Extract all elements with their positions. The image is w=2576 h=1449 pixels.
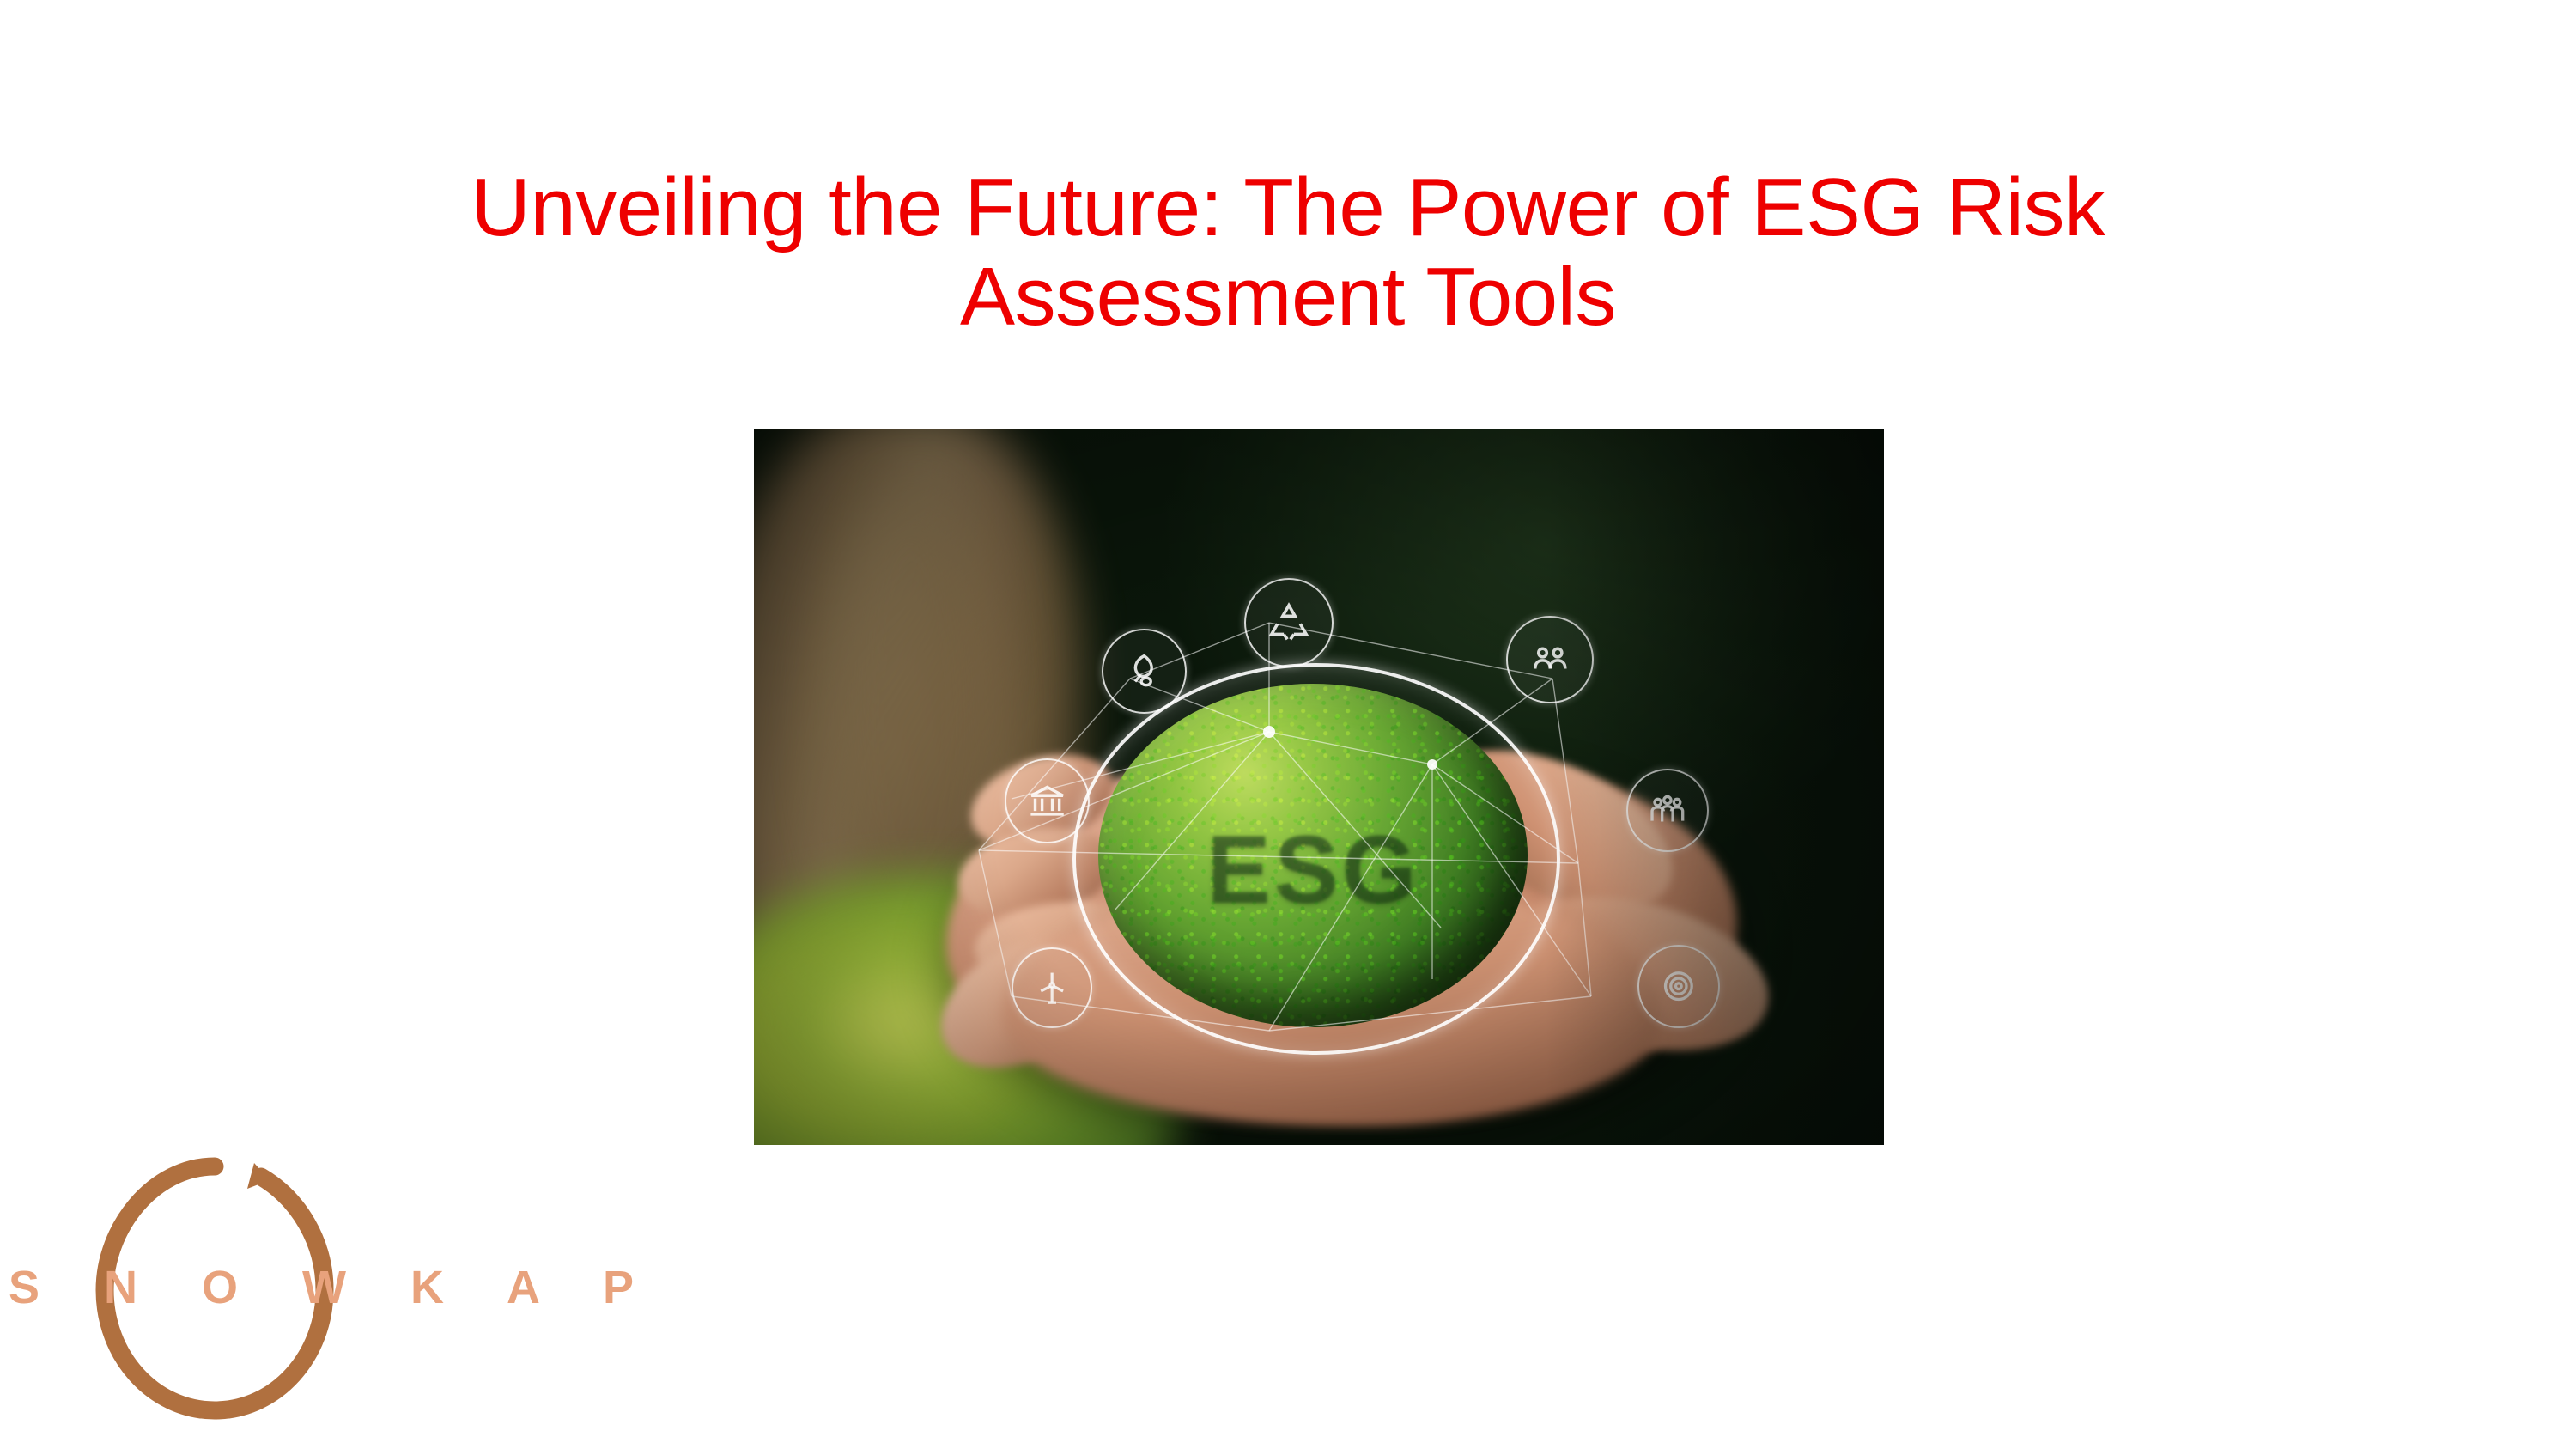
hero-image: ESG <box>754 429 1884 1145</box>
page-title: Unveiling the Future: The Power of ESG R… <box>361 163 2215 341</box>
slide-canvas: Unveiling the Future: The Power of ESG R… <box>0 0 2576 1449</box>
brand-logo[interactable]: S N O W K A P <box>9 1151 567 1434</box>
photo-vignette <box>754 429 1884 1145</box>
logo-wordmark: S N O W K A P <box>9 1261 567 1314</box>
